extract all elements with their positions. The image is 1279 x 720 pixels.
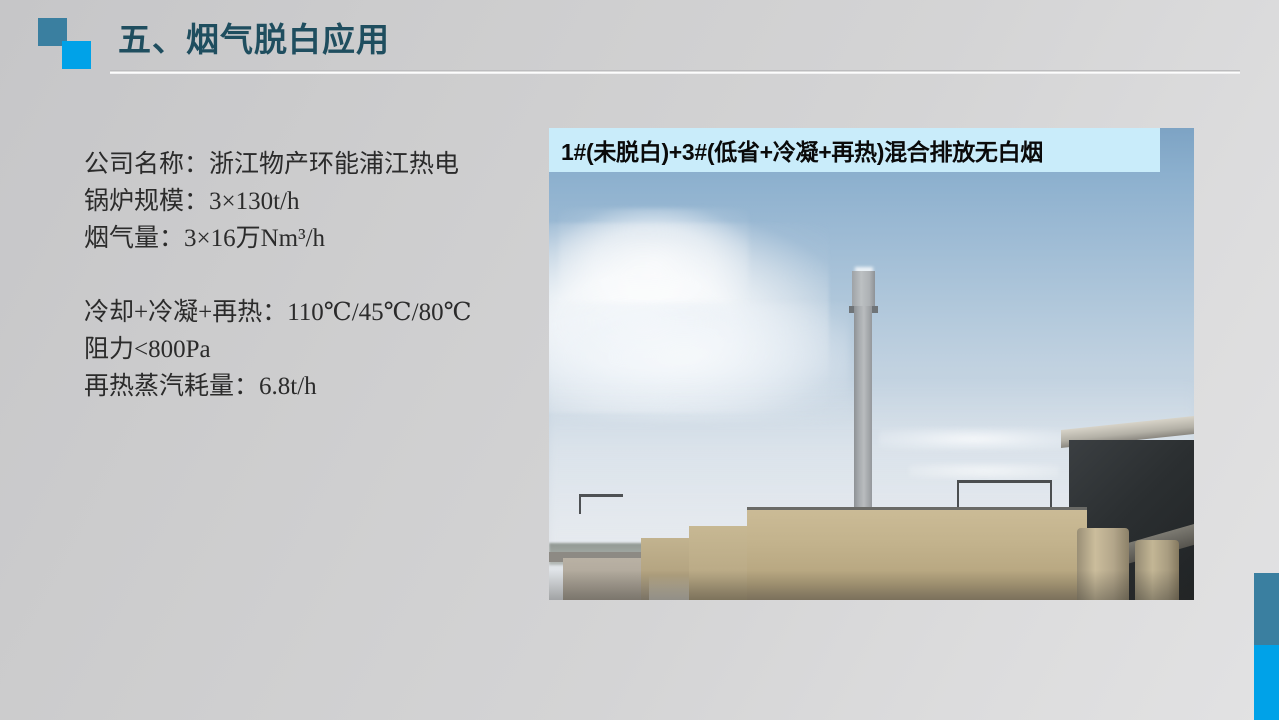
photo-caption: 1#(未脱白)+3#(低省+冷凝+再热)混合排放无白烟 [549, 128, 1160, 172]
info-column: 公司名称：浙江物产环能浦江热电 锅炉规模：3×130t/h 烟气量：3×16万N… [84, 146, 524, 405]
slide-header: 五、烟气脱白应用 [0, 0, 1279, 90]
page-title: 五、烟气脱白应用 [118, 19, 390, 61]
info-line-boiler-scale: 锅炉规模：3×130t/h [84, 183, 524, 220]
info-line-company: 公司名称：浙江物产环能浦江热电 [84, 146, 524, 183]
info-line-flue-gas-volume: 烟气量：3×16万Nm³/h [84, 220, 524, 257]
photo-bottom-shadow [549, 570, 1194, 600]
cloud-streak-right [879, 428, 1069, 450]
info-paragraph-gap [84, 257, 524, 294]
cloud-streak-right-lower [909, 463, 1059, 479]
photo-figure: 1#(未脱白)+3#(低省+冷凝+再热)混合排放无白烟 [549, 128, 1194, 600]
info-line-reheat-steam-consumption: 再热蒸汽耗量：6.8t/h [84, 368, 524, 405]
info-line-resistance: 阻力<800Pa [84, 331, 524, 368]
title-divider [110, 70, 1240, 74]
chimney-top [852, 271, 875, 309]
info-line-process-temperatures: 冷却+冷凝+再热：110℃/45℃/80℃ [84, 294, 524, 331]
gantry-structure-left [579, 494, 623, 514]
corner-accent-bar [1254, 573, 1279, 720]
corner-accent-teal [1254, 573, 1279, 645]
decorative-square-blue [62, 41, 91, 69]
corner-accent-blue [1254, 645, 1279, 720]
